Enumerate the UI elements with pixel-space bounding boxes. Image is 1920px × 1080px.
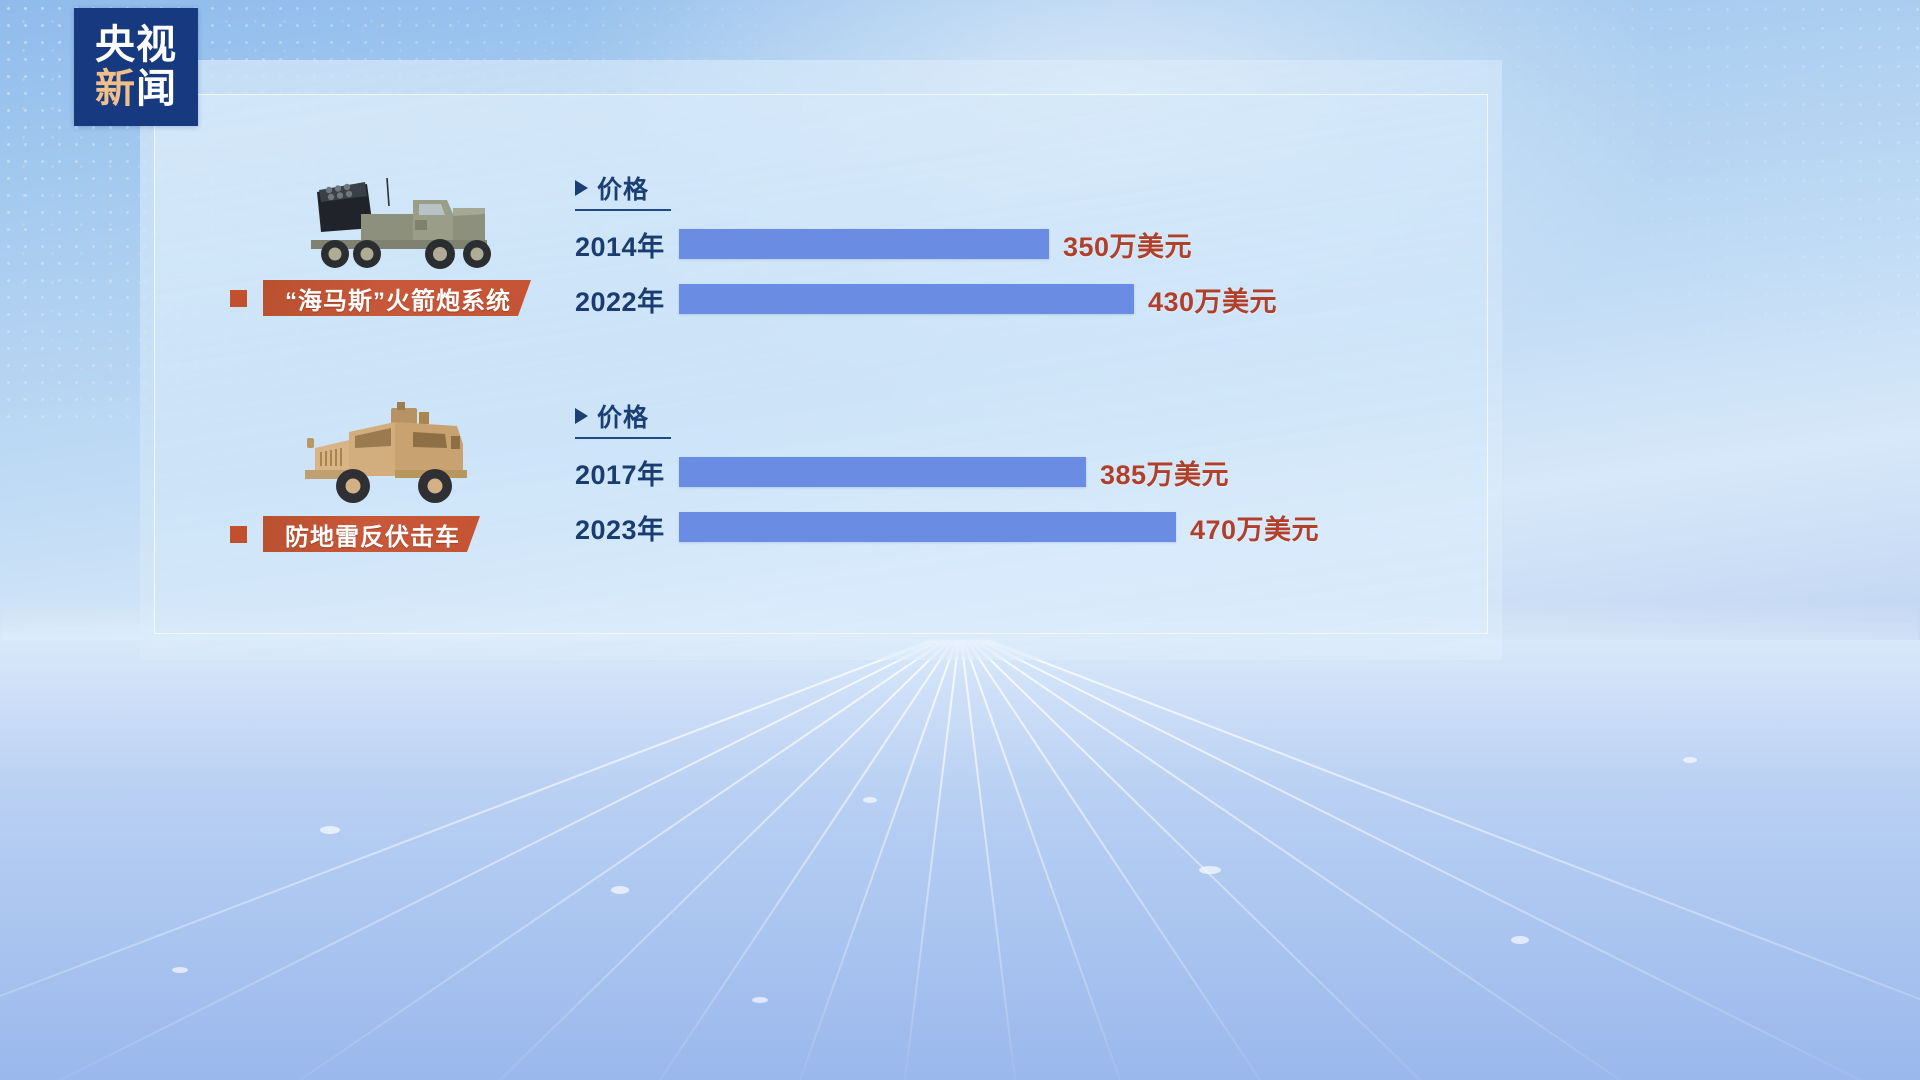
bar-value-label: 385万美元 bbox=[1100, 453, 1229, 492]
rocket-artillery-truck-icon bbox=[295, 170, 495, 280]
logo-line-xinwen: 新闻 bbox=[95, 69, 177, 109]
mrap-label-row: 防地雷反伏击车 bbox=[230, 516, 480, 552]
logo-char-xin: 新 bbox=[95, 66, 136, 112]
bar-fill bbox=[679, 229, 1049, 259]
perspective-grid-svg bbox=[0, 640, 1920, 1080]
bar-fill bbox=[679, 457, 1086, 487]
triangle-marker-icon bbox=[575, 408, 588, 424]
bar-row: 2023年 470万美元 bbox=[575, 506, 1410, 548]
price-heading-text: 价格 bbox=[597, 398, 649, 434]
mrap-bar-list: 2017年 385万美元 2023年 470万美元 bbox=[575, 451, 1410, 548]
bar-value-label: 430万美元 bbox=[1148, 280, 1277, 319]
broadcast-graphic-stage: 央视 新闻 bbox=[0, 0, 1920, 1080]
himars-illustration bbox=[295, 170, 495, 280]
logo-line-yangshi: 央视 bbox=[95, 25, 177, 65]
mrap-name-badge: 防地雷反伏击车 bbox=[263, 516, 480, 552]
square-bullet-icon bbox=[230, 290, 247, 307]
triangle-marker-icon bbox=[575, 180, 588, 196]
mrap-price-chart: 价格 2017年 385万美元 2023年 470万美元 bbox=[575, 398, 1410, 548]
logo-char-wen: 闻 bbox=[136, 66, 177, 112]
bar-value-label: 470万美元 bbox=[1190, 508, 1319, 547]
price-heading-text: 价格 bbox=[597, 170, 649, 206]
bar-year-label: 2022年 bbox=[575, 280, 679, 319]
himars-name-badge: “海马斯”火箭炮系统 bbox=[263, 280, 531, 316]
mrap-price-heading: 价格 bbox=[575, 398, 671, 439]
bar-row: 2022年 430万美元 bbox=[575, 278, 1410, 320]
mrap-vehicle-column: 防地雷反伏击车 bbox=[230, 398, 560, 508]
cctv-news-logo: 央视 新闻 bbox=[74, 8, 198, 126]
bar-row: 2017年 385万美元 bbox=[575, 451, 1410, 493]
bar-value-label: 350万美元 bbox=[1063, 225, 1192, 264]
bar-year-label: 2014年 bbox=[575, 225, 679, 264]
bar-row: 2014年 350万美元 bbox=[575, 223, 1410, 265]
himars-label-row: “海马斯”火箭炮系统 bbox=[230, 280, 531, 316]
bar-year-label: 2017年 bbox=[575, 453, 679, 492]
bar-year-label: 2023年 bbox=[575, 508, 679, 547]
himars-vehicle-column: “海马斯”火箭炮系统 bbox=[230, 170, 560, 280]
content-panel bbox=[140, 60, 1502, 660]
himars-price-chart: 价格 2014年 350万美元 2022年 430万美元 bbox=[575, 170, 1410, 320]
bar-fill bbox=[679, 284, 1134, 314]
bar-fill bbox=[679, 512, 1176, 542]
himars-bar-list: 2014年 350万美元 2022年 430万美元 bbox=[575, 223, 1410, 320]
mrap-armored-truck-icon bbox=[295, 398, 495, 508]
mrap-illustration bbox=[295, 398, 495, 508]
square-bullet-icon bbox=[230, 526, 247, 543]
background-perspective-floor bbox=[0, 640, 1920, 1080]
himars-price-heading: 价格 bbox=[575, 170, 671, 211]
